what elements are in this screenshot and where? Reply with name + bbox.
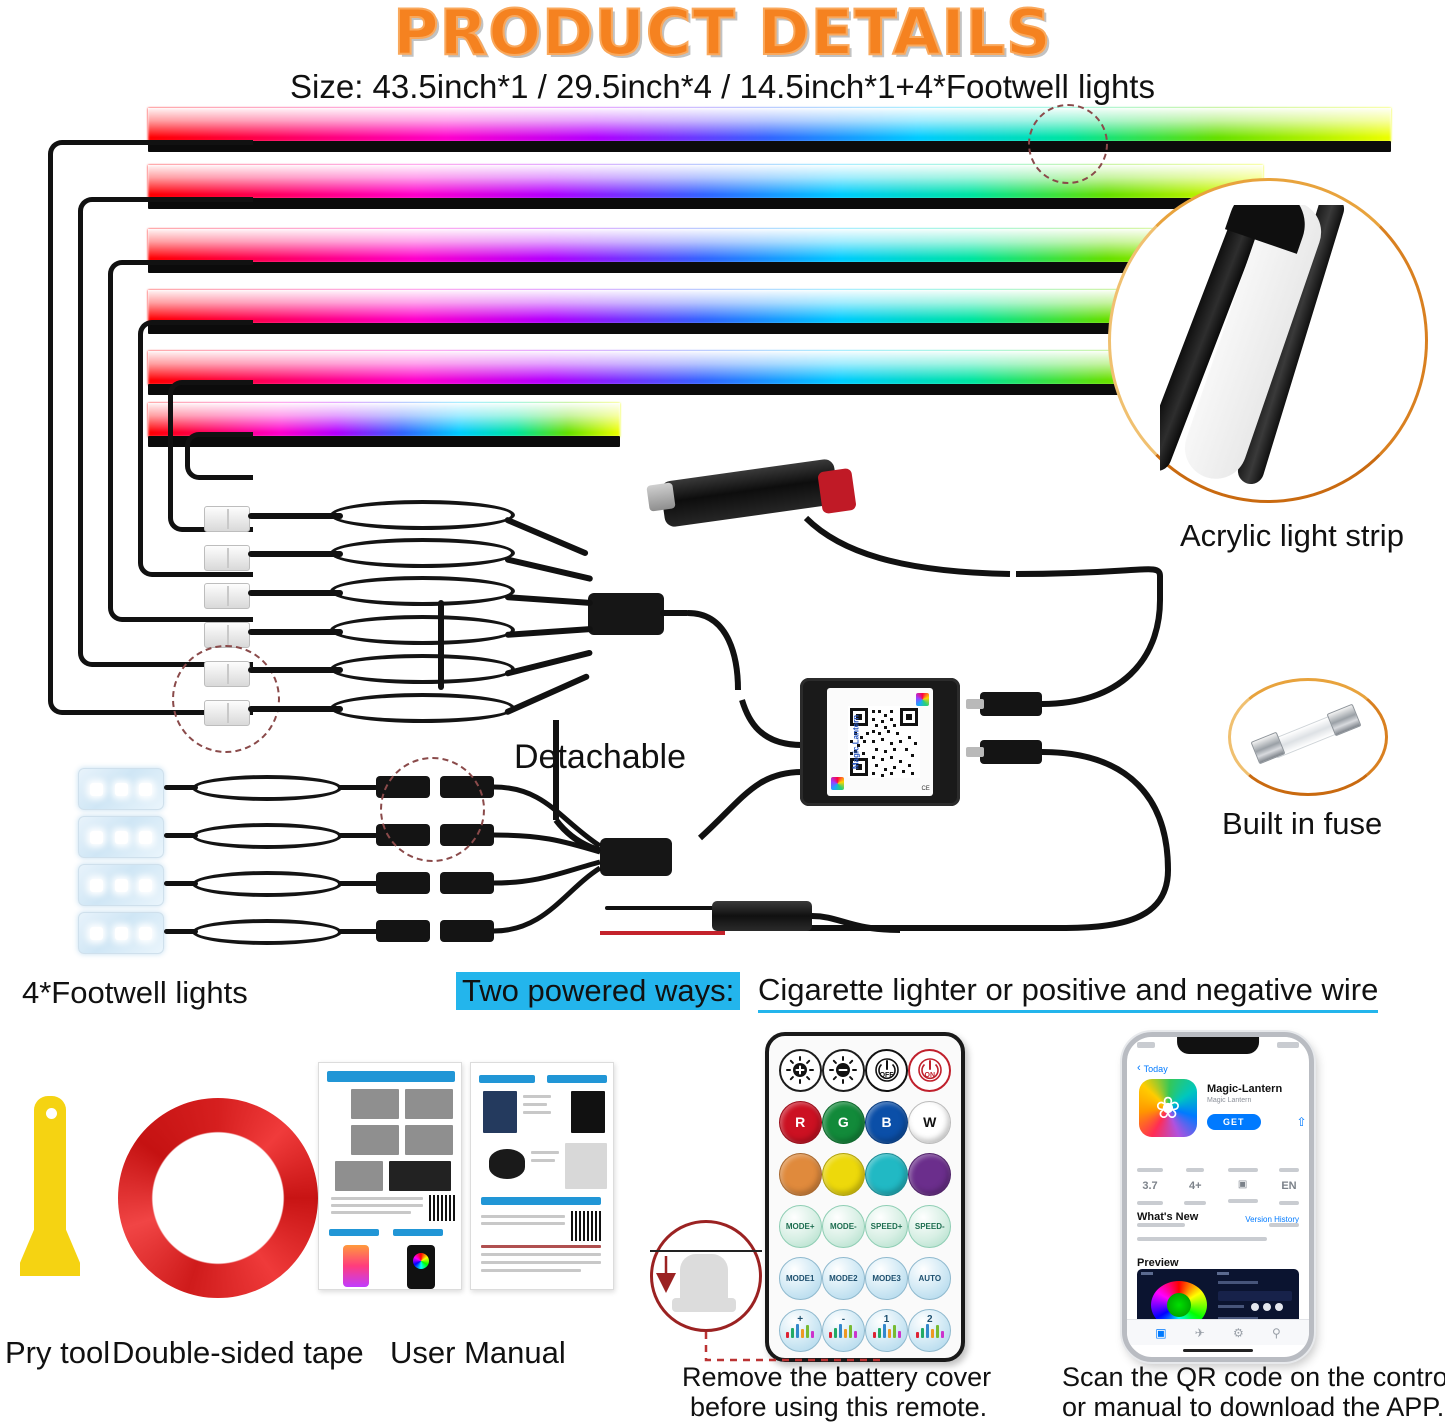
remote-button-speed-[interactable]: SPEED+ (865, 1205, 908, 1248)
footwell-lamp (78, 912, 164, 954)
double-sided-tape-label: Double-sided tape (112, 1335, 364, 1371)
detachable-highlight-ring-footwell (380, 757, 485, 862)
led-strip-4 (148, 290, 1263, 334)
remote-button-music-note-1-icon[interactable]: 1 (865, 1309, 908, 1352)
battery-cover-illustration (650, 1220, 762, 1332)
phone-app-store-screenshot: ‹ Today ❀ Magic-Lantern Magic Lantern GE… (1122, 1032, 1314, 1362)
detachable-label: Detachable (514, 738, 686, 777)
footwell-barrel-pair (376, 872, 430, 894)
remote-button-mode2[interactable]: MODE2 (822, 1257, 865, 1300)
preview-heading: Preview (1137, 1257, 1179, 1269)
size-subtitle: Size: 43.5inch*1 / 29.5inch*4 / 14.5inch… (0, 68, 1445, 106)
app-icon: ❀ (1139, 1079, 1197, 1137)
app-name: Magic-Lantern (1207, 1083, 1307, 1095)
remote-button-r[interactable]: R (779, 1101, 822, 1144)
app-rating-value: 3.7 (1137, 1180, 1163, 1192)
remote-button-off[interactable]: OFF (865, 1049, 908, 1092)
footwell-barrel-pair (376, 920, 430, 942)
app-age-value: 4+ (1184, 1180, 1206, 1192)
led-strip-1 (148, 108, 1391, 152)
remote-button-mode-[interactable]: MODE- (822, 1205, 865, 1248)
cert-label: CE (921, 786, 929, 792)
tab-today-icon[interactable]: ▣ (1155, 1326, 1166, 1340)
app-language-value: EN (1279, 1180, 1299, 1192)
remote-button-grid[interactable]: OFFONRGBWMODE+MODE-SPEED+SPEED-MODE1MODE… (779, 1049, 952, 1352)
app-back-label[interactable]: Today (1144, 1064, 1168, 1074)
product-details-infographic: PRODUCT DETAILS Size: 43.5inch*1 / 29.5i… (0, 0, 1445, 1419)
power-off-icon (873, 1056, 901, 1084)
remote-button-btn-2-0[interactable] (779, 1153, 822, 1196)
tab-search-icon[interactable]: ⚲ (1272, 1326, 1281, 1340)
footwell-lamp (78, 816, 164, 858)
remote-button-w[interactable]: W (908, 1101, 951, 1144)
phone-notch (1177, 1037, 1259, 1054)
power-on-icon (916, 1056, 944, 1084)
user-manual-page-2 (470, 1062, 614, 1290)
footwell-lights-label: 4*Footwell lights (22, 975, 248, 1011)
acrylic-strip-photo (1160, 205, 1390, 485)
developer-badge-icon: ▣ (1228, 1179, 1258, 1190)
remote-button-music-note-2-icon[interactable]: 2 (908, 1309, 951, 1352)
acrylic-source-ring (1028, 104, 1108, 184)
double-sided-tape (118, 1098, 318, 1298)
tab-apps-icon[interactable]: ⚙ (1233, 1326, 1244, 1340)
share-icon[interactable]: ⇧ (1297, 1115, 1307, 1129)
app-get-button[interactable]: GET (1207, 1114, 1261, 1130)
remote-button-mode1[interactable]: MODE1 (779, 1257, 822, 1300)
app-tab-bar[interactable]: ▣ ✈ ⚙ ⚲ (1127, 1319, 1309, 1345)
footwell-lamp (78, 768, 164, 810)
battery-note-line1: Remove the battery cover (682, 1362, 991, 1393)
footwell-splitter-hub (600, 838, 672, 876)
whats-new-heading: What's New (1137, 1211, 1198, 1223)
hub-to-controller-wire (660, 610, 690, 616)
remote-button-brightness-up-icon[interactable] (779, 1049, 822, 1092)
remote-button-mode3[interactable]: MODE3 (865, 1257, 908, 1300)
strip-connector (204, 506, 250, 532)
battery-note-line2: before using this remote. (690, 1392, 987, 1423)
remote-button-on[interactable]: ON (908, 1049, 951, 1092)
two-powered-ways-text: Cigarette lighter or positive and negati… (758, 972, 1378, 1013)
built-in-fuse-label: Built in fuse (1222, 806, 1382, 842)
pry-tool-label: Pry tool (5, 1335, 110, 1371)
controller-qr-face: Magic Lantern (827, 688, 933, 796)
remote-button-g[interactable]: G (822, 1101, 865, 1144)
qr-note-line1: Scan the QR code on the controller (1062, 1362, 1445, 1393)
remote-button-b[interactable]: B (865, 1101, 908, 1144)
inline-fuse-holder (712, 901, 812, 931)
user-manual-label: User Manual (390, 1335, 566, 1371)
page-title: PRODUCT DETAILS (0, 0, 1445, 69)
footwell-barrel-pair (440, 872, 494, 894)
user-manual-page-1 (318, 1062, 462, 1290)
back-chevron-icon[interactable]: ‹ (1137, 1063, 1141, 1074)
remote-button-btn-2-3[interactable] (908, 1153, 951, 1196)
rgb-logo-icon (831, 777, 844, 790)
remote-button-music-eq-plus-icon[interactable]: + (779, 1309, 822, 1352)
two-powered-ways-tag: Two powered ways: (456, 972, 740, 1010)
controller-brand-label: Magic Lantern (852, 715, 861, 769)
detachable-highlight-ring-strips (172, 645, 280, 753)
rgb-logo-icon (916, 693, 929, 706)
strip-connector (204, 545, 250, 571)
ir-remote-control[interactable]: OFFONRGBWMODE+MODE-SPEED+SPEED-MODE1MODE… (765, 1032, 965, 1362)
strip-connector (204, 583, 250, 609)
led-strip-5 (148, 351, 1263, 395)
brightness-down-icon (828, 1055, 858, 1085)
acrylic-strip-label: Acrylic light strip (1180, 518, 1404, 554)
footwell-lamp (78, 864, 164, 906)
remote-button-brightness-down-icon[interactable] (822, 1049, 865, 1092)
remote-button-speed-[interactable]: SPEED- (908, 1205, 951, 1248)
app-developer: Magic Lantern (1207, 1097, 1307, 1104)
pry-tool (20, 1096, 80, 1301)
footwell-barrel-pair (440, 920, 494, 942)
brightness-up-icon (785, 1055, 815, 1085)
remote-button-btn-2-2[interactable] (865, 1153, 908, 1196)
cable-splitter-hub (588, 593, 664, 635)
controller-box: Magic Lantern (800, 678, 960, 806)
fuse-photo (1248, 700, 1368, 772)
qr-note-line2: or manual to download the APP. (1062, 1392, 1444, 1423)
remote-button-auto[interactable]: AUTO (908, 1257, 951, 1300)
led-strip-3 (148, 229, 1263, 273)
remote-button-btn-2-1[interactable] (822, 1153, 865, 1196)
remote-button-music-eq-minus-icon[interactable]: - (822, 1309, 865, 1352)
tab-games-icon[interactable]: ✈ (1195, 1326, 1205, 1340)
remote-button-mode-[interactable]: MODE+ (779, 1205, 822, 1248)
